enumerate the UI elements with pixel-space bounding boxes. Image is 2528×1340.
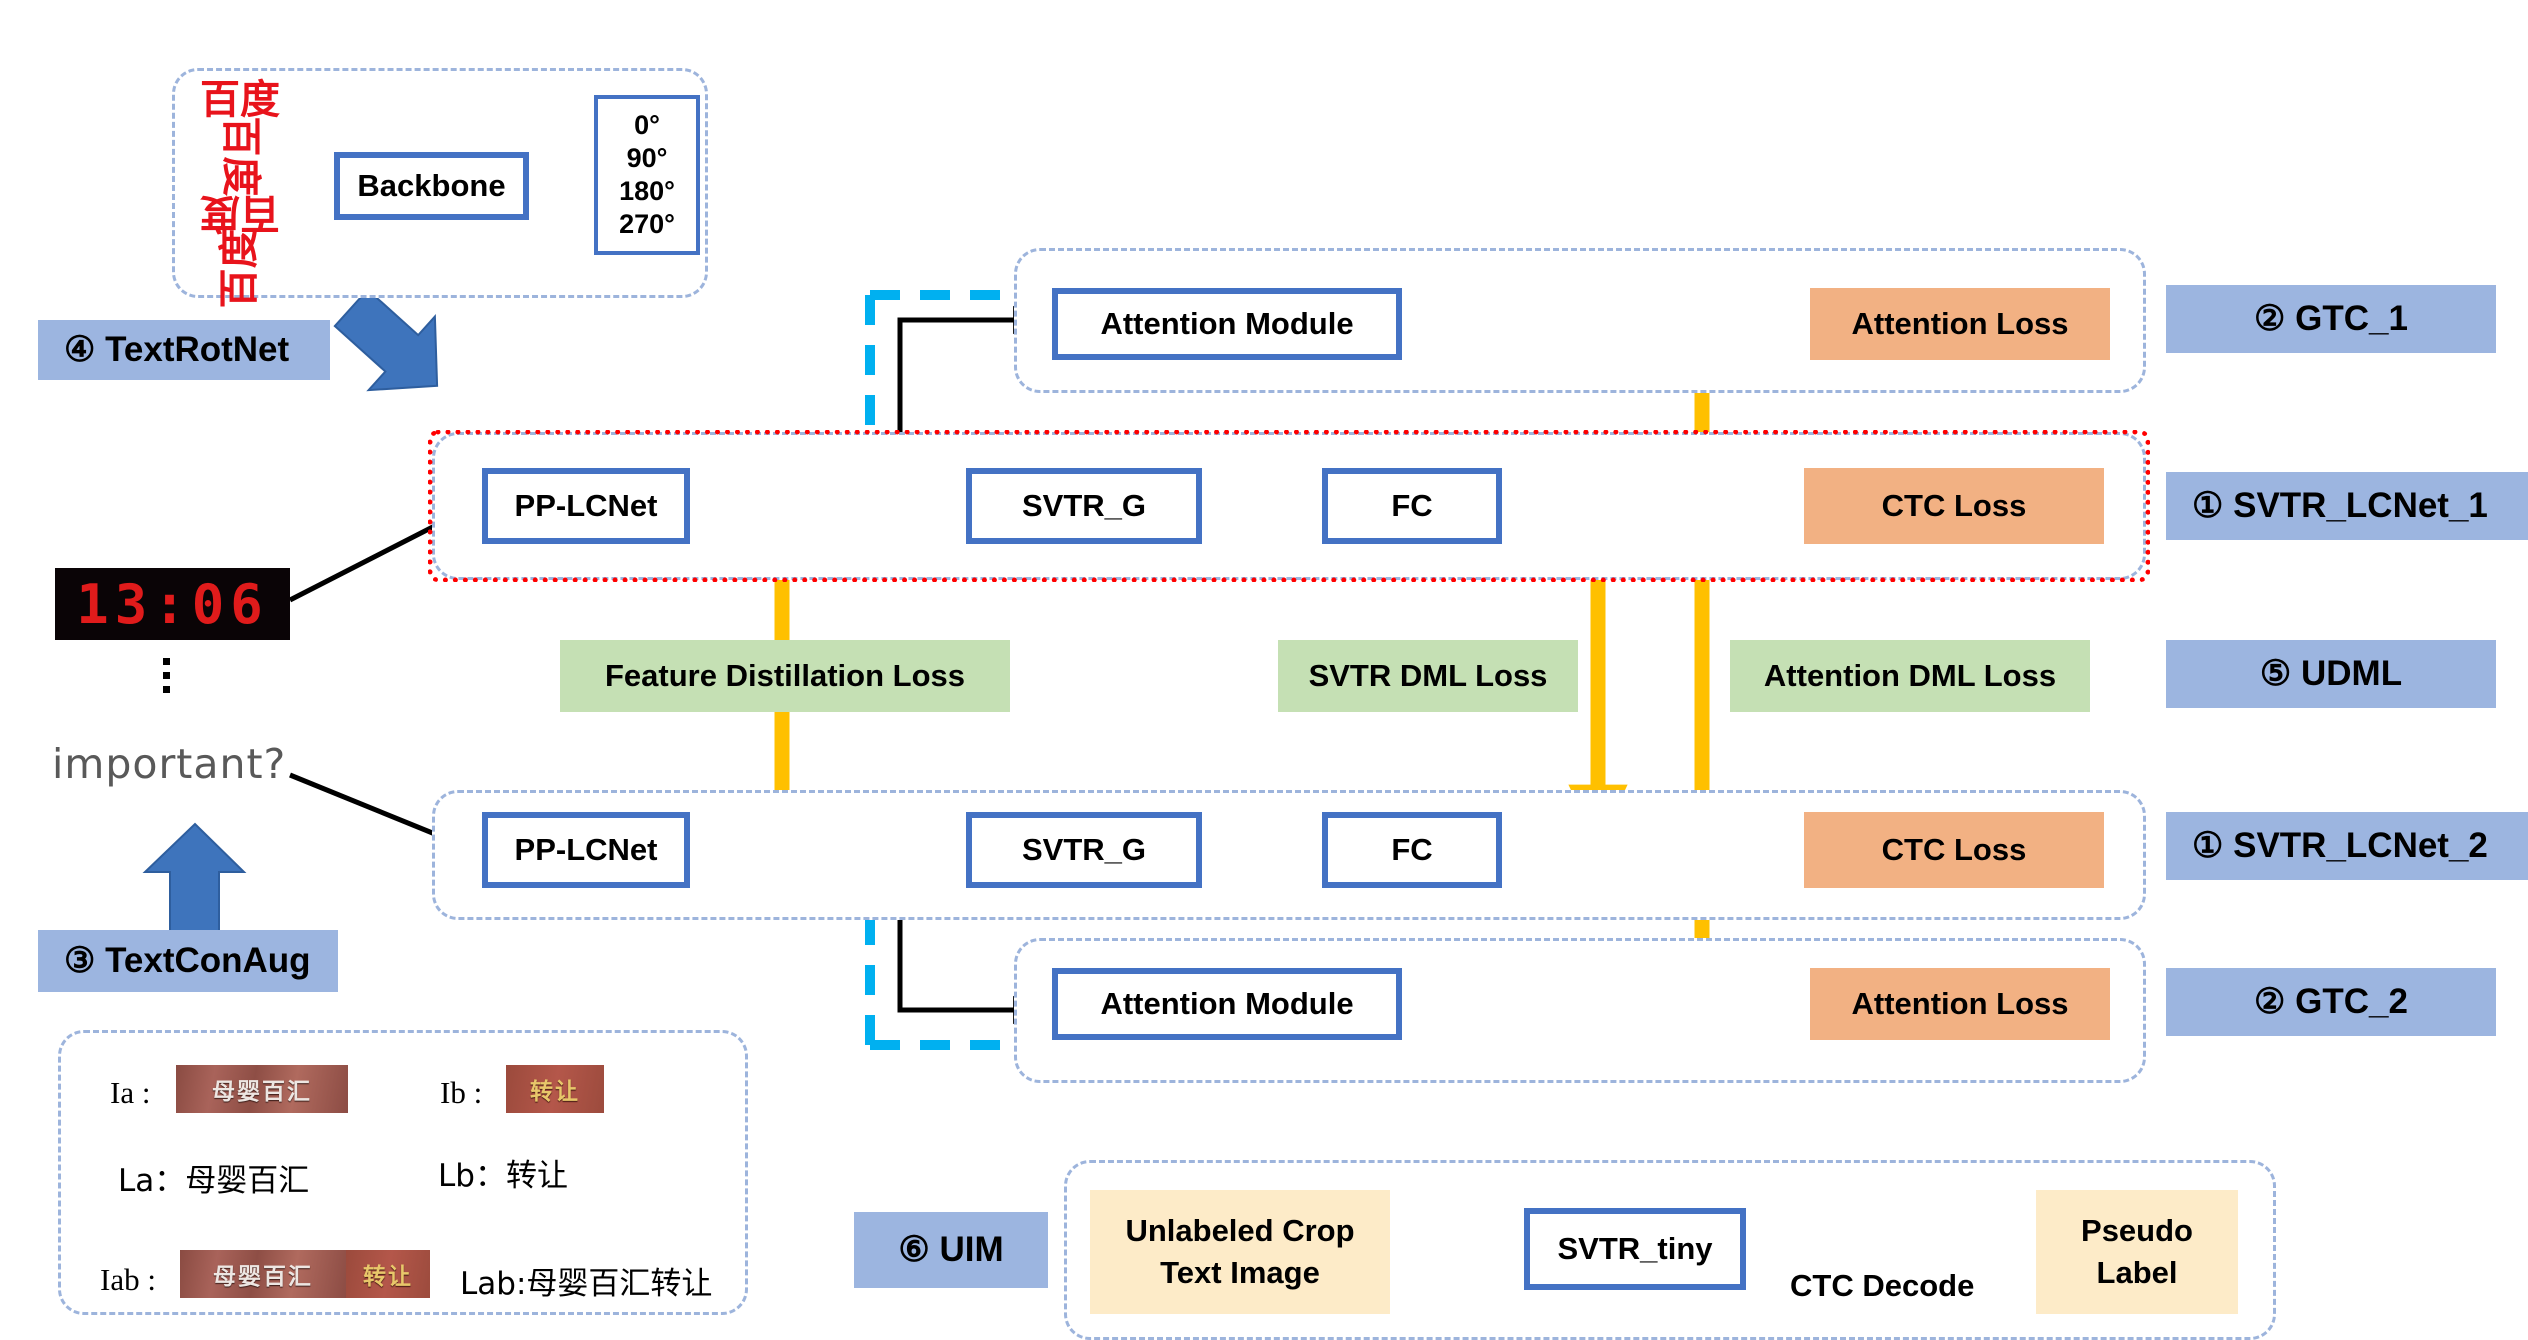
rotated-sample-180deg: 百度 (200, 194, 280, 231)
tag-textrotnet[interactable]: ④ TextRotNet (38, 320, 330, 380)
rotated-sample-90deg: 百度 (222, 116, 259, 196)
handwriting-sample: important? (52, 740, 312, 796)
svtr-lcnet2-backbone[interactable]: PP-LCNet (482, 812, 690, 888)
led-clock-value: 13:06 (76, 573, 269, 636)
uim-model-node[interactable]: SVTR_tiny (1524, 1208, 1746, 1290)
textconaug-callout-arrow[interactable] (145, 824, 244, 940)
tag-udml[interactable]: ⑤ UDML (2166, 640, 2496, 708)
textrotnet-angle-node: 0° 90° 180° 270° (594, 95, 700, 255)
svtr-lcnet1-head-label: FC (1391, 488, 1432, 524)
handwriting-value: important? (52, 740, 286, 788)
textconaug-iab-image: 母婴百汇 转让 (180, 1250, 430, 1298)
uim-output-node: Pseudo Label (2036, 1190, 2238, 1314)
tag-gtc2-label: ② GTC_2 (2254, 982, 2408, 1022)
gtc2-attention-loss: Attention Loss (1810, 968, 2110, 1040)
tag-svtr-lcnet2-label: ① SVTR_LCNet_2 (2192, 826, 2488, 866)
uim-output-line2: Label (2097, 1252, 2178, 1294)
tag-uim-label: ⑥ UIM (898, 1230, 1003, 1270)
tag-svtr-lcnet2[interactable]: ① SVTR_LCNet_2 (2166, 812, 2528, 880)
rotated-sample-stack: 百度 百度 百度 百度 (188, 82, 292, 287)
svtr-lcnet2-loss-label: CTC Loss (1882, 832, 2027, 868)
uim-input-node: Unlabeled Crop Text Image (1090, 1190, 1390, 1314)
textconaug-iab-image-part-b: 转让 (346, 1250, 430, 1298)
textconaug-ib-label: Ib : (440, 1075, 482, 1111)
angle-90: 90° (627, 143, 668, 174)
textconaug-lab-label: Lab:母婴百汇转让 (460, 1258, 712, 1303)
svtr-dml-loss: SVTR DML Loss (1278, 640, 1578, 712)
svtr-lcnet2-loss: CTC Loss (1804, 812, 2104, 888)
angle-0: 0° (634, 110, 660, 141)
svtr-lcnet1-neck-label: SVTR_G (1022, 488, 1146, 524)
tag-gtc2[interactable]: ② GTC_2 (2166, 968, 2496, 1036)
gtc2-attention-module-label: Attention Module (1100, 986, 1353, 1022)
angle-180: 180° (619, 176, 675, 207)
textrotnet-backbone-node[interactable]: Backbone (334, 152, 529, 220)
svtr-lcnet1-neck[interactable]: SVTR_G (966, 468, 1202, 544)
textrotnet-backbone-label: Backbone (357, 168, 505, 204)
gtc1-attention-loss-label: Attention Loss (1852, 306, 2069, 342)
uim-output-line1: Pseudo (2081, 1210, 2193, 1252)
tag-gtc1[interactable]: ② GTC_1 (2166, 285, 2496, 353)
textconaug-lb-label: Lb：转让 (438, 1150, 568, 1195)
tag-uim[interactable]: ⑥ UIM (854, 1212, 1048, 1288)
svtr-lcnet1-backbone-label: PP-LCNet (515, 488, 658, 524)
tag-svtr-lcnet1[interactable]: ① SVTR_LCNet_1 (2166, 472, 2528, 540)
gtc1-attention-module-label: Attention Module (1100, 306, 1353, 342)
textconaug-ia-image: 母婴百汇 (176, 1065, 348, 1113)
uim-model-label: SVTR_tiny (1557, 1231, 1712, 1267)
svtr-lcnet1-backbone[interactable]: PP-LCNet (482, 468, 690, 544)
svtr-lcnet1-loss: CTC Loss (1804, 468, 2104, 544)
uim-decode-label: CTC Decode (1790, 1268, 1974, 1304)
tag-textconaug-label: ③ TextConAug (64, 941, 311, 981)
attention-dml-loss: Attention DML Loss (1730, 640, 2090, 712)
textconaug-la-label: La：母婴百汇 (118, 1155, 309, 1200)
svtr-lcnet2-head-label: FC (1391, 832, 1432, 868)
svtr-lcnet1-loss-label: CTC Loss (1882, 488, 2027, 524)
textconaug-ia-image-text: 母婴百汇 (212, 1072, 312, 1106)
textconaug-ib-image-text: 转让 (530, 1072, 580, 1106)
svtr-dml-loss-label: SVTR DML Loss (1309, 658, 1548, 694)
feature-distillation-loss-label: Feature Distillation Loss (605, 658, 965, 694)
tag-gtc1-label: ② GTC_1 (2254, 299, 2408, 339)
svtr-lcnet2-backbone-label: PP-LCNet (515, 832, 658, 868)
tag-svtr-lcnet1-label: ① SVTR_LCNet_1 (2192, 486, 2488, 526)
textconaug-iab-label: Iab : (100, 1262, 156, 1298)
sample-ellipsis (163, 658, 170, 693)
svtr-lcnet2-neck-label: SVTR_G (1022, 832, 1146, 868)
tag-textconaug[interactable]: ③ TextConAug (38, 930, 338, 992)
tag-udml-label: ⑤ UDML (2260, 654, 2402, 694)
textconaug-iab-image-part-a: 母婴百汇 (180, 1250, 346, 1298)
rotated-sample-270deg: 百度 (222, 229, 259, 309)
uim-input-line1: Unlabeled Crop (1125, 1210, 1354, 1252)
angle-270: 270° (619, 209, 675, 240)
textconaug-ia-label: Ia : (110, 1075, 150, 1111)
svtr-lcnet2-head[interactable]: FC (1322, 812, 1502, 888)
tag-textrotnet-label: ④ TextRotNet (64, 330, 289, 370)
svtr-lcnet1-head[interactable]: FC (1322, 468, 1502, 544)
gtc2-attention-loss-label: Attention Loss (1852, 986, 2069, 1022)
led-clock-sample: 13:06 (55, 568, 290, 640)
feature-distillation-loss: Feature Distillation Loss (560, 640, 1010, 712)
svtr-lcnet2-neck[interactable]: SVTR_G (966, 812, 1202, 888)
rotated-sample-0deg: 百度 (200, 82, 280, 119)
gtc2-attention-module[interactable]: Attention Module (1052, 968, 1402, 1040)
gtc1-attention-module[interactable]: Attention Module (1052, 288, 1402, 360)
gtc1-attention-loss: Attention Loss (1810, 288, 2110, 360)
uim-input-line2: Text Image (1160, 1252, 1320, 1294)
attention-dml-loss-label: Attention DML Loss (1764, 658, 2056, 694)
textconaug-ib-image: 转让 (506, 1065, 604, 1113)
